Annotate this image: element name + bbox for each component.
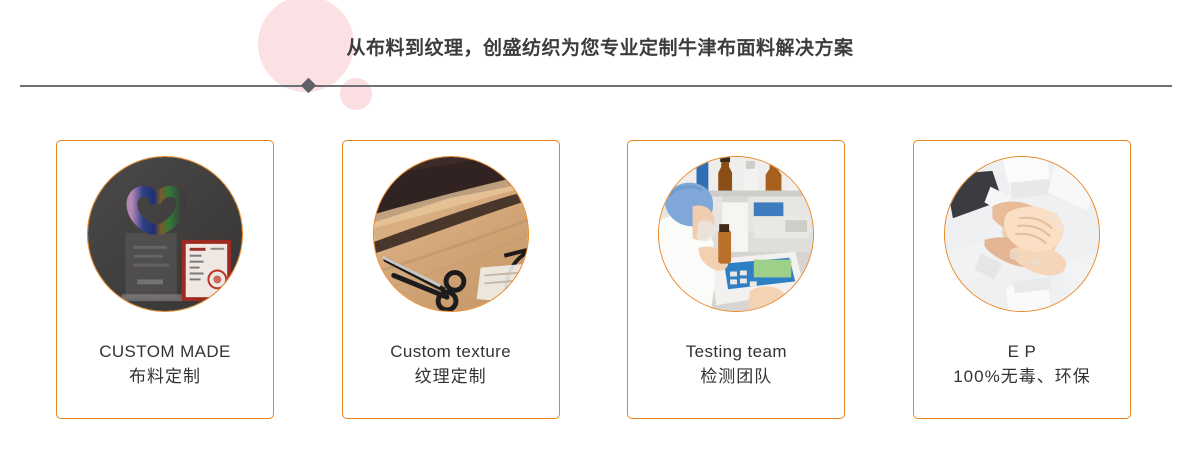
card-labels: CUSTOM MADE 布料定制 <box>99 340 231 389</box>
feature-card-row: CUSTOM MADE 布料定制 <box>56 140 1131 419</box>
card-labels: Testing team 检测团队 <box>686 340 787 389</box>
decorative-pink-circle-small <box>340 78 372 110</box>
fabric-scissors-photo <box>373 156 529 312</box>
card-label-zh: 纹理定制 <box>390 365 511 390</box>
feature-card-ep[interactable]: E P 100%无毒、环保 <box>913 140 1131 419</box>
teamwork-hands-photo <box>944 156 1100 312</box>
feature-card-custom-texture[interactable]: Custom texture 纹理定制 <box>342 140 560 419</box>
card-label-en: Testing team <box>686 340 787 365</box>
card-label-en: Custom texture <box>390 340 511 365</box>
card-label-en: E P <box>953 340 1090 365</box>
card-labels: Custom texture 纹理定制 <box>390 340 511 389</box>
card-labels: E P 100%无毒、环保 <box>953 340 1090 389</box>
divider-line <box>20 85 1172 87</box>
page-header: 从布料到纹理，创盛纺织为您专业定制牛津布面料解决方案 <box>0 0 1200 118</box>
award-trophy-certificate-photo <box>87 156 243 312</box>
page-title: 从布料到纹理，创盛纺织为您专业定制牛津布面料解决方案 <box>0 33 1200 60</box>
lab-testing-photo <box>658 156 814 312</box>
card-label-zh: 100%无毒、环保 <box>953 365 1090 390</box>
card-label-en: CUSTOM MADE <box>99 340 231 365</box>
card-label-zh: 检测团队 <box>686 365 787 390</box>
feature-card-testing-team[interactable]: Testing team 检测团队 <box>627 140 845 419</box>
feature-card-custom-made[interactable]: CUSTOM MADE 布料定制 <box>56 140 274 419</box>
card-label-zh: 布料定制 <box>99 365 231 390</box>
